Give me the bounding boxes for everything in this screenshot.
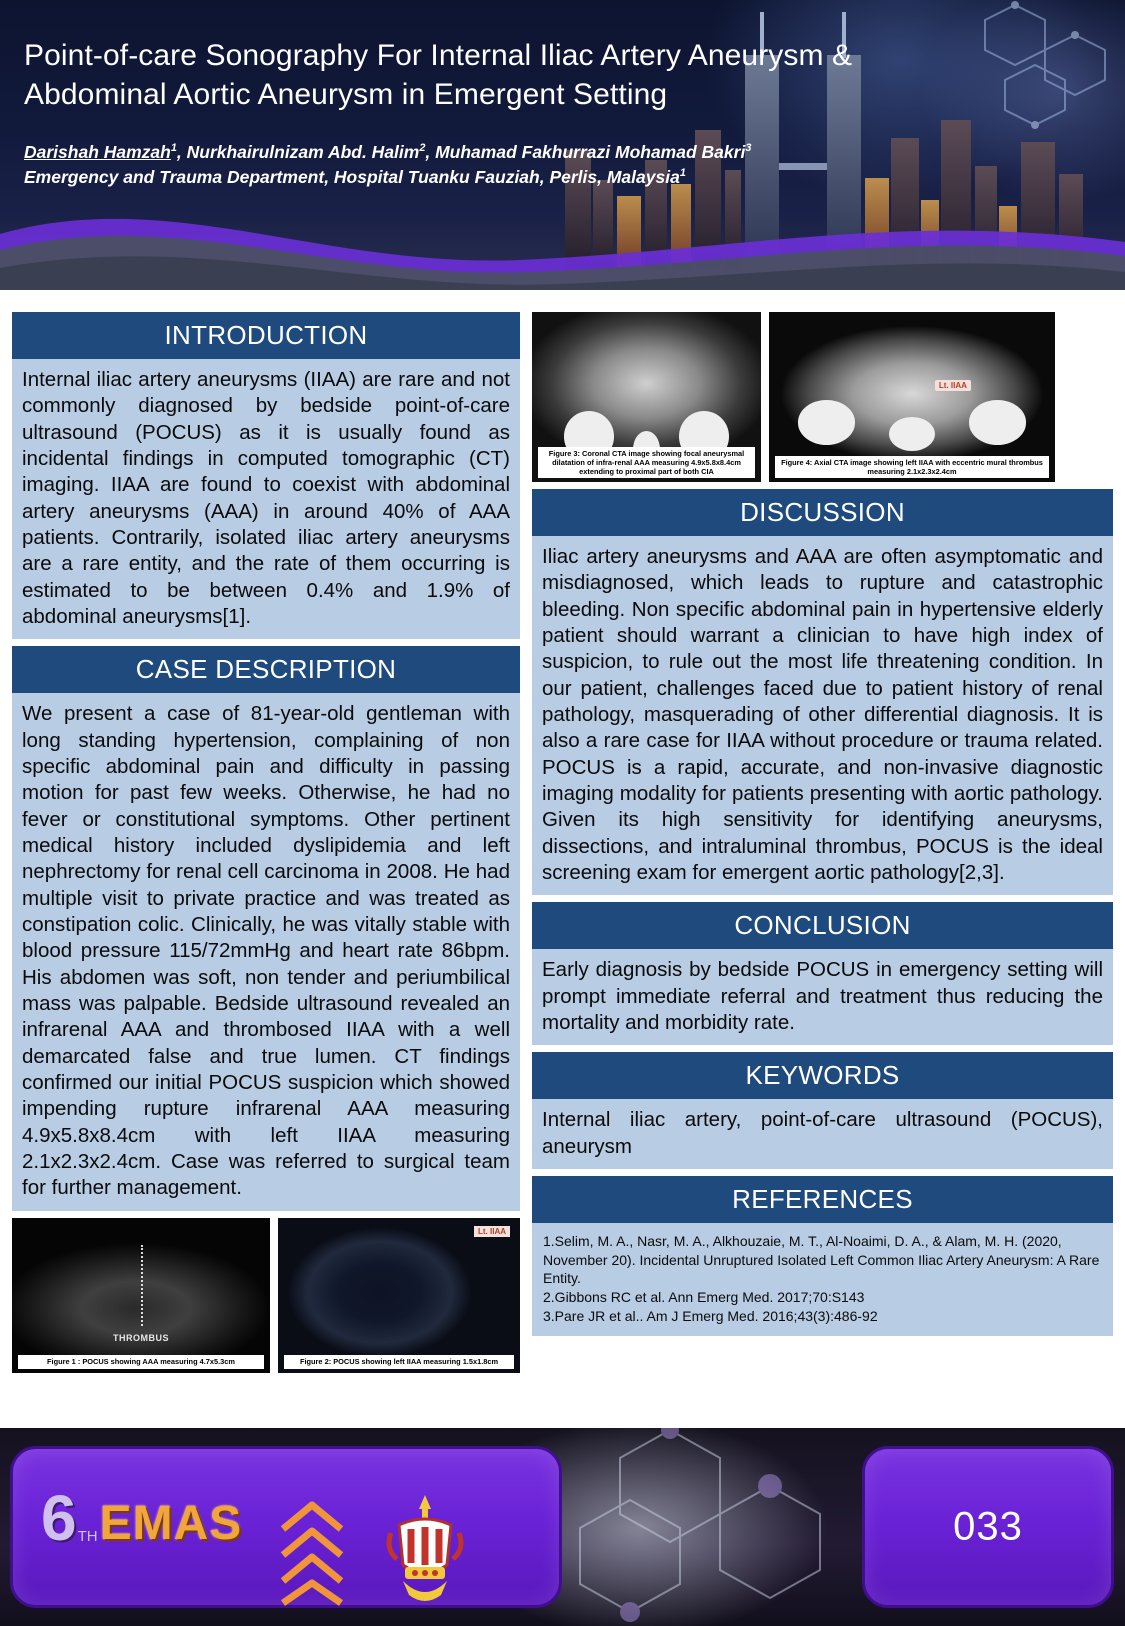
measurement-caliper — [141, 1245, 143, 1326]
section-body-discussion: Iliac artery aneurysms and AAA are often… — [532, 536, 1113, 895]
emas-edition-number: 6 — [41, 1491, 77, 1545]
figure-4-caption: Figure 4: Axial CTA image showing left I… — [775, 456, 1049, 478]
figure-4-annotation: Lt. IIAA — [935, 380, 971, 391]
page-title: Point-of-care Sonography For Internal Il… — [24, 36, 904, 114]
affiliation: Emergency and Trauma Department, Hospita… — [24, 167, 680, 187]
emas-ordinal-suffix: TH — [78, 1528, 98, 1545]
poster-footer: 6 TH EMAS — [0, 1428, 1125, 1626]
reference-item: 3.Pare JR et al.. Am J Emerg Med. 2016;4… — [543, 1307, 1102, 1326]
section-header-introduction: INTRODUCTION — [12, 312, 520, 359]
reference-item: 2.Gibbons RC et al. Ann Emerg Med. 2017;… — [543, 1288, 1102, 1307]
figure-2-image — [278, 1218, 520, 1373]
authors-rest-1: , Nurkhairulnizam Abd. Halim — [177, 142, 419, 162]
presenting-author: Darishah Hamzah — [24, 142, 171, 162]
figure-2-pocus-iiaa: Lt. IIAA Figure 2: POCUS showing left II… — [278, 1218, 520, 1373]
section-header-references: REFERENCES — [532, 1176, 1113, 1223]
section-header-discussion: DISCUSSION — [532, 489, 1113, 536]
chevron-logo-icon — [275, 1495, 349, 1607]
emas-logo: 6 TH EMAS — [41, 1491, 242, 1545]
section-header-keywords: KEYWORDS — [532, 1052, 1113, 1099]
affiliation-sup: 1 — [680, 167, 686, 179]
section-header-conclusion: CONCLUSION — [532, 902, 1113, 949]
section-body-references: 1.Selim, M. A., Nasr, M. A., Alkhouzaie,… — [532, 1223, 1113, 1336]
author-sup-3: 3 — [745, 142, 751, 154]
figure-3-coronal-cta: Figure 3: Coronal CTA image showing foca… — [532, 312, 761, 482]
poster-number-panel: 033 — [862, 1446, 1114, 1608]
poster-header: Point-of-care Sonography For Internal Il… — [0, 0, 1125, 290]
section-body-conclusion: Early diagnosis by bedside POCUS in emer… — [532, 949, 1113, 1045]
ultrasound-figure-row: THROMBUS Figure 1 : POCUS showing AAA me… — [12, 1218, 520, 1373]
footer-hex-graphic — [560, 1428, 900, 1626]
conference-branding-panel: 6 TH EMAS — [10, 1446, 562, 1608]
header-text-block: Point-of-care Sonography For Internal Il… — [24, 36, 904, 190]
title-line-2: Abdominal Aortic Aneurysm in Emergent Se… — [24, 78, 667, 111]
figure-1-annotation: THROMBUS — [113, 1333, 169, 1343]
figure-1-pocus-aaa: THROMBUS Figure 1 : POCUS showing AAA me… — [12, 1218, 270, 1373]
right-column: Figure 3: Coronal CTA image showing foca… — [532, 312, 1113, 1336]
title-line-1: Point-of-care Sonography For Internal Il… — [24, 39, 852, 72]
conference-poster: Point-of-care Sonography For Internal Il… — [0, 0, 1125, 1626]
hospital-crest-icon — [381, 1489, 469, 1609]
header-wave-divider — [0, 172, 1125, 290]
figure-1-caption: Figure 1 : POCUS showing AAA measuring 4… — [18, 1355, 264, 1368]
ct-figure-row: Figure 3: Coronal CTA image showing foca… — [532, 312, 1113, 482]
figure-4-axial-cta: Lt. IIAA Figure 4: Axial CTA image showi… — [769, 312, 1055, 482]
authors-rest-2: , Muhamad Fakhurrazi Mohamad Bakri — [425, 142, 745, 162]
emas-wordmark: EMAS — [100, 1502, 243, 1545]
section-body-keywords: Internal iliac artery, point-of-care ult… — [532, 1099, 1113, 1169]
figure-2-caption: Figure 2: POCUS showing left IIAA measur… — [284, 1355, 514, 1368]
figure-2-annotation: Lt. IIAA — [474, 1226, 510, 1237]
poster-number: 033 — [865, 1505, 1111, 1550]
section-body-case-description: We present a case of 81-year-old gentlem… — [12, 693, 520, 1210]
section-body-introduction: Internal iliac artery aneurysms (IIAA) a… — [12, 359, 520, 639]
reference-item: 1.Selim, M. A., Nasr, M. A., Alkhouzaie,… — [543, 1232, 1102, 1288]
figure-3-caption: Figure 3: Coronal CTA image showing foca… — [538, 447, 755, 478]
hex-network-icon — [945, 0, 1125, 160]
author-list: Darishah Hamzah1, Nurkhairulnizam Abd. H… — [24, 140, 904, 190]
section-header-case-description: CASE DESCRIPTION — [12, 646, 520, 693]
left-column: INTRODUCTION Internal iliac artery aneur… — [12, 312, 520, 1373]
